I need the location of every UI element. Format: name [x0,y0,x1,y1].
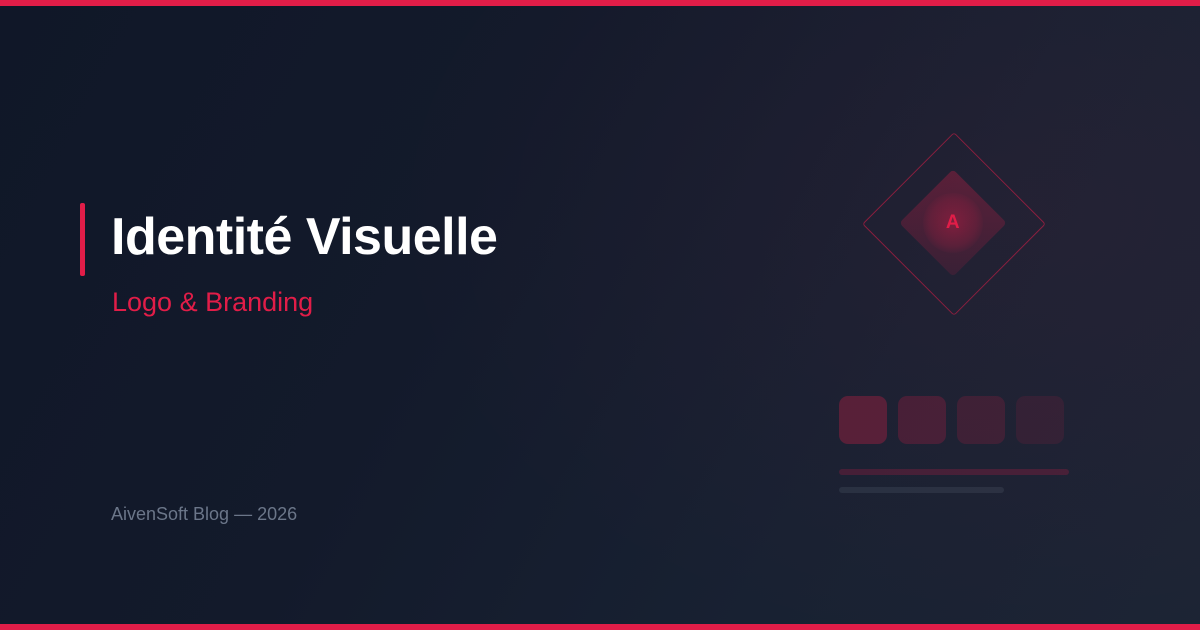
footer-attribution: AivenSoft Blog — 2026 [111,502,297,526]
page-title: Identité Visuelle [111,206,497,268]
banner-canvas: Identité Visuelle Logo & Branding AivenS… [0,0,1200,630]
title-accent-bar [80,203,85,276]
brand-mark-cluster: A [826,138,1088,508]
page-subtitle: Logo & Branding [112,286,313,318]
palette-swatch [898,396,946,444]
palette-swatch [1016,396,1064,444]
bottom-accent-rule [0,624,1200,630]
palette-swatch-row [839,396,1064,444]
logo-monogram: A [923,193,983,253]
diamond-logo: A [826,138,1088,358]
palette-swatch [839,396,887,444]
placeholder-bar-primary [839,469,1069,475]
palette-swatch [957,396,1005,444]
placeholder-bar-secondary [839,487,1004,493]
top-accent-rule [0,0,1200,6]
